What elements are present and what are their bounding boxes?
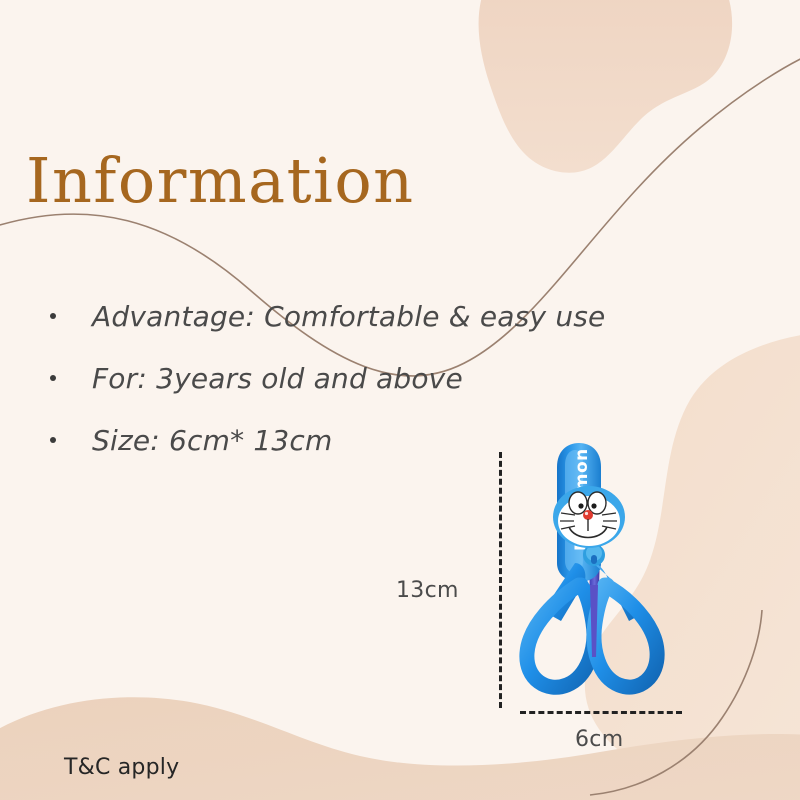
height-guide-line [499,452,502,708]
terms-label: T&C apply [64,755,179,780]
information-slide: Information Advantage: Comfortable & eas… [0,0,800,800]
page-title: Information [26,143,415,219]
bullet-icon [50,437,56,443]
list-item: For: 3years old and above [40,347,720,409]
list-item-label: For: 3years old and above [92,362,463,395]
bullet-icon [50,313,56,319]
list-item: Advantage: Comfortable & easy use [40,285,720,347]
list-item-label: Advantage: Comfortable & easy use [92,300,606,333]
list-item-label: Size: 6cm* 13cm [92,424,333,457]
height-measure-label: 13cm [396,578,459,603]
bullet-icon [50,375,56,381]
doraemon-face-icon [553,486,625,548]
width-measure-label: 6cm [575,727,623,752]
product-image-scissors: DoraEmon [505,435,705,715]
scissor-loop-right [594,585,657,687]
scissor-loop-left [527,585,594,687]
